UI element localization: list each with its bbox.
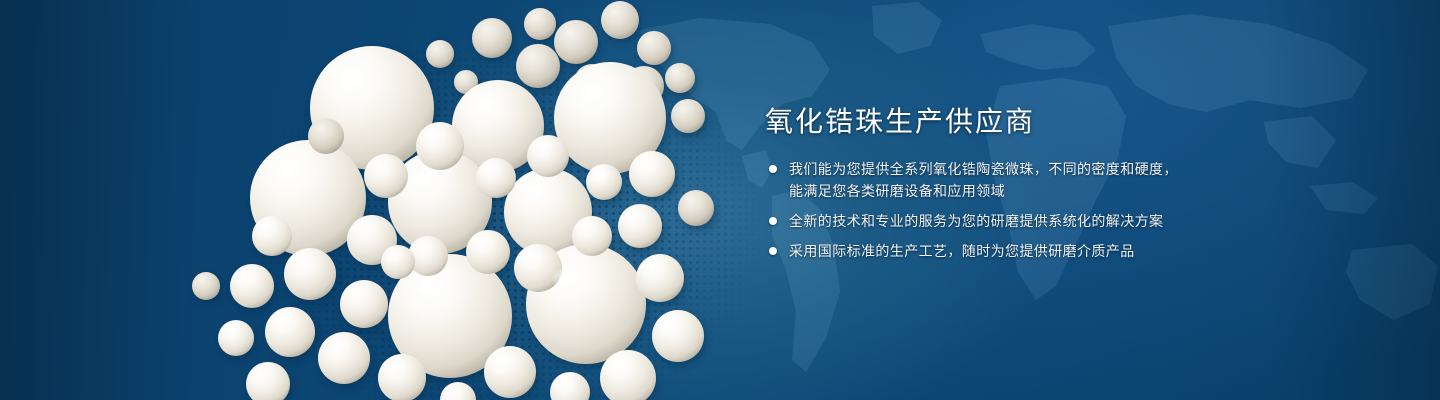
- zirconia-beads-image: [140, 0, 740, 400]
- list-item-line: 采用国际标准的生产工艺，随时为您提供研磨介质产品: [789, 240, 1365, 262]
- bullet-dot-icon: [769, 217, 777, 225]
- list-item: 采用国际标准的生产工艺，随时为您提供研磨介质产品: [765, 240, 1365, 262]
- list-item-line: 全新的技术和专业的服务为您的研磨提供系统化的解决方案: [789, 210, 1365, 232]
- hero-banner: 氧化锆珠生产供应商 我们能为您提供全系列氧化锆陶瓷微珠，不同的密度和硬度， 能满…: [0, 0, 1440, 400]
- list-item-line: 我们能为您提供全系列氧化锆陶瓷微珠，不同的密度和硬度，: [789, 158, 1365, 180]
- list-item: 全新的技术和专业的服务为您的研磨提供系统化的解决方案: [765, 210, 1365, 232]
- page-title: 氧化锆珠生产供应商: [765, 104, 1365, 140]
- bullet-dot-icon: [769, 247, 777, 255]
- feature-list: 我们能为您提供全系列氧化锆陶瓷微珠，不同的密度和硬度， 能满足您各类研磨设备和应…: [765, 158, 1365, 262]
- bullet-dot-icon: [769, 165, 777, 173]
- banner-copy: 氧化锆珠生产供应商 我们能为您提供全系列氧化锆陶瓷微珠，不同的密度和硬度， 能满…: [765, 104, 1365, 262]
- list-item-line: 能满足您各类研磨设备和应用领域: [789, 180, 1365, 202]
- list-item: 我们能为您提供全系列氧化锆陶瓷微珠，不同的密度和硬度， 能满足您各类研磨设备和应…: [765, 158, 1365, 202]
